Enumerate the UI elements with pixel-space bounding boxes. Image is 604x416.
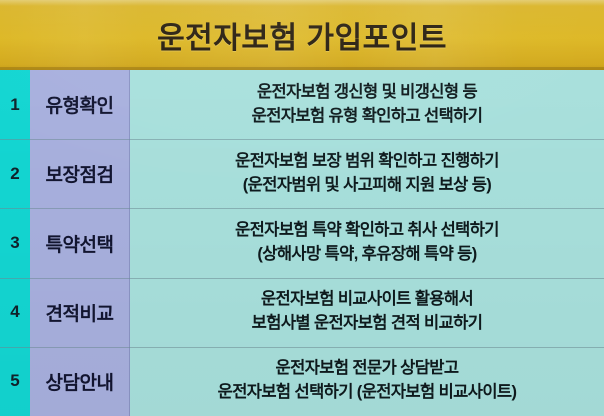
description-line: 운전자보험 보장 범위 확인하고 진행하기 (235, 150, 499, 174)
table-row: 3 특약선택 운전자보험 특약 확인하고 취사 선택하기 (상해사망 특약, 후… (0, 208, 604, 277)
row-description: 운전자보험 전문가 상담받고 운전자보험 선택하기 (운전자보험 비교사이트) (130, 347, 604, 416)
points-table: 1 유형확인 운전자보험 갱신형 및 비갱신형 등 운전자보험 유형 확인하고 … (0, 70, 604, 416)
description-line: 운전자보험 유형 확인하고 선택하기 (252, 105, 483, 129)
row-label: 상담안내 (30, 347, 130, 416)
description-line: 보험사별 운전자보험 견적 비교하기 (252, 312, 483, 336)
row-description: 운전자보험 특약 확인하고 취사 선택하기 (상해사망 특약, 후유장해 특약 … (130, 208, 604, 277)
row-label: 특약선택 (30, 208, 130, 277)
table-row: 5 상담안내 운전자보험 전문가 상담받고 운전자보험 선택하기 (운전자보험 … (0, 347, 604, 416)
table-row: 2 보장점검 운전자보험 보장 범위 확인하고 진행하기 (운전자범위 및 사고… (0, 139, 604, 208)
row-number: 1 (0, 70, 30, 139)
table-row: 4 견적비교 운전자보험 비교사이트 활용해서 보험사별 운전자보험 견적 비교… (0, 278, 604, 347)
description-line: 운전자보험 선택하기 (운전자보험 비교사이트) (218, 381, 517, 405)
page-title: 운전자보험 가입포인트 (157, 13, 447, 57)
row-label: 보장점검 (30, 139, 130, 208)
row-description: 운전자보험 보장 범위 확인하고 진행하기 (운전자범위 및 사고피해 지원 보… (130, 139, 604, 208)
description-line: (운전자범위 및 사고피해 지원 보상 등) (243, 174, 491, 198)
row-description: 운전자보험 비교사이트 활용해서 보험사별 운전자보험 견적 비교하기 (130, 278, 604, 347)
row-number: 2 (0, 139, 30, 208)
row-number: 5 (0, 347, 30, 416)
table-row: 1 유형확인 운전자보험 갱신형 및 비갱신형 등 운전자보험 유형 확인하고 … (0, 70, 604, 139)
header-banner: 운전자보험 가입포인트 (0, 0, 604, 70)
row-number: 3 (0, 208, 30, 277)
row-label: 견적비교 (30, 278, 130, 347)
infographic-screen: 운전자보험 가입포인트 1 유형확인 운전자보험 갱신형 및 비갱신형 등 운전… (0, 0, 604, 416)
description-line: 운전자보험 갱신형 및 비갱신형 등 (257, 81, 477, 105)
description-line: (상해사망 특약, 후유장해 특약 등) (257, 243, 476, 267)
description-line: 운전자보험 특약 확인하고 취사 선택하기 (235, 219, 499, 243)
description-line: 운전자보험 비교사이트 활용해서 (261, 288, 473, 312)
description-line: 운전자보험 전문가 상담받고 (276, 357, 459, 381)
row-description: 운전자보험 갱신형 및 비갱신형 등 운전자보험 유형 확인하고 선택하기 (130, 70, 604, 139)
row-label: 유형확인 (30, 70, 130, 139)
row-number: 4 (0, 278, 30, 347)
